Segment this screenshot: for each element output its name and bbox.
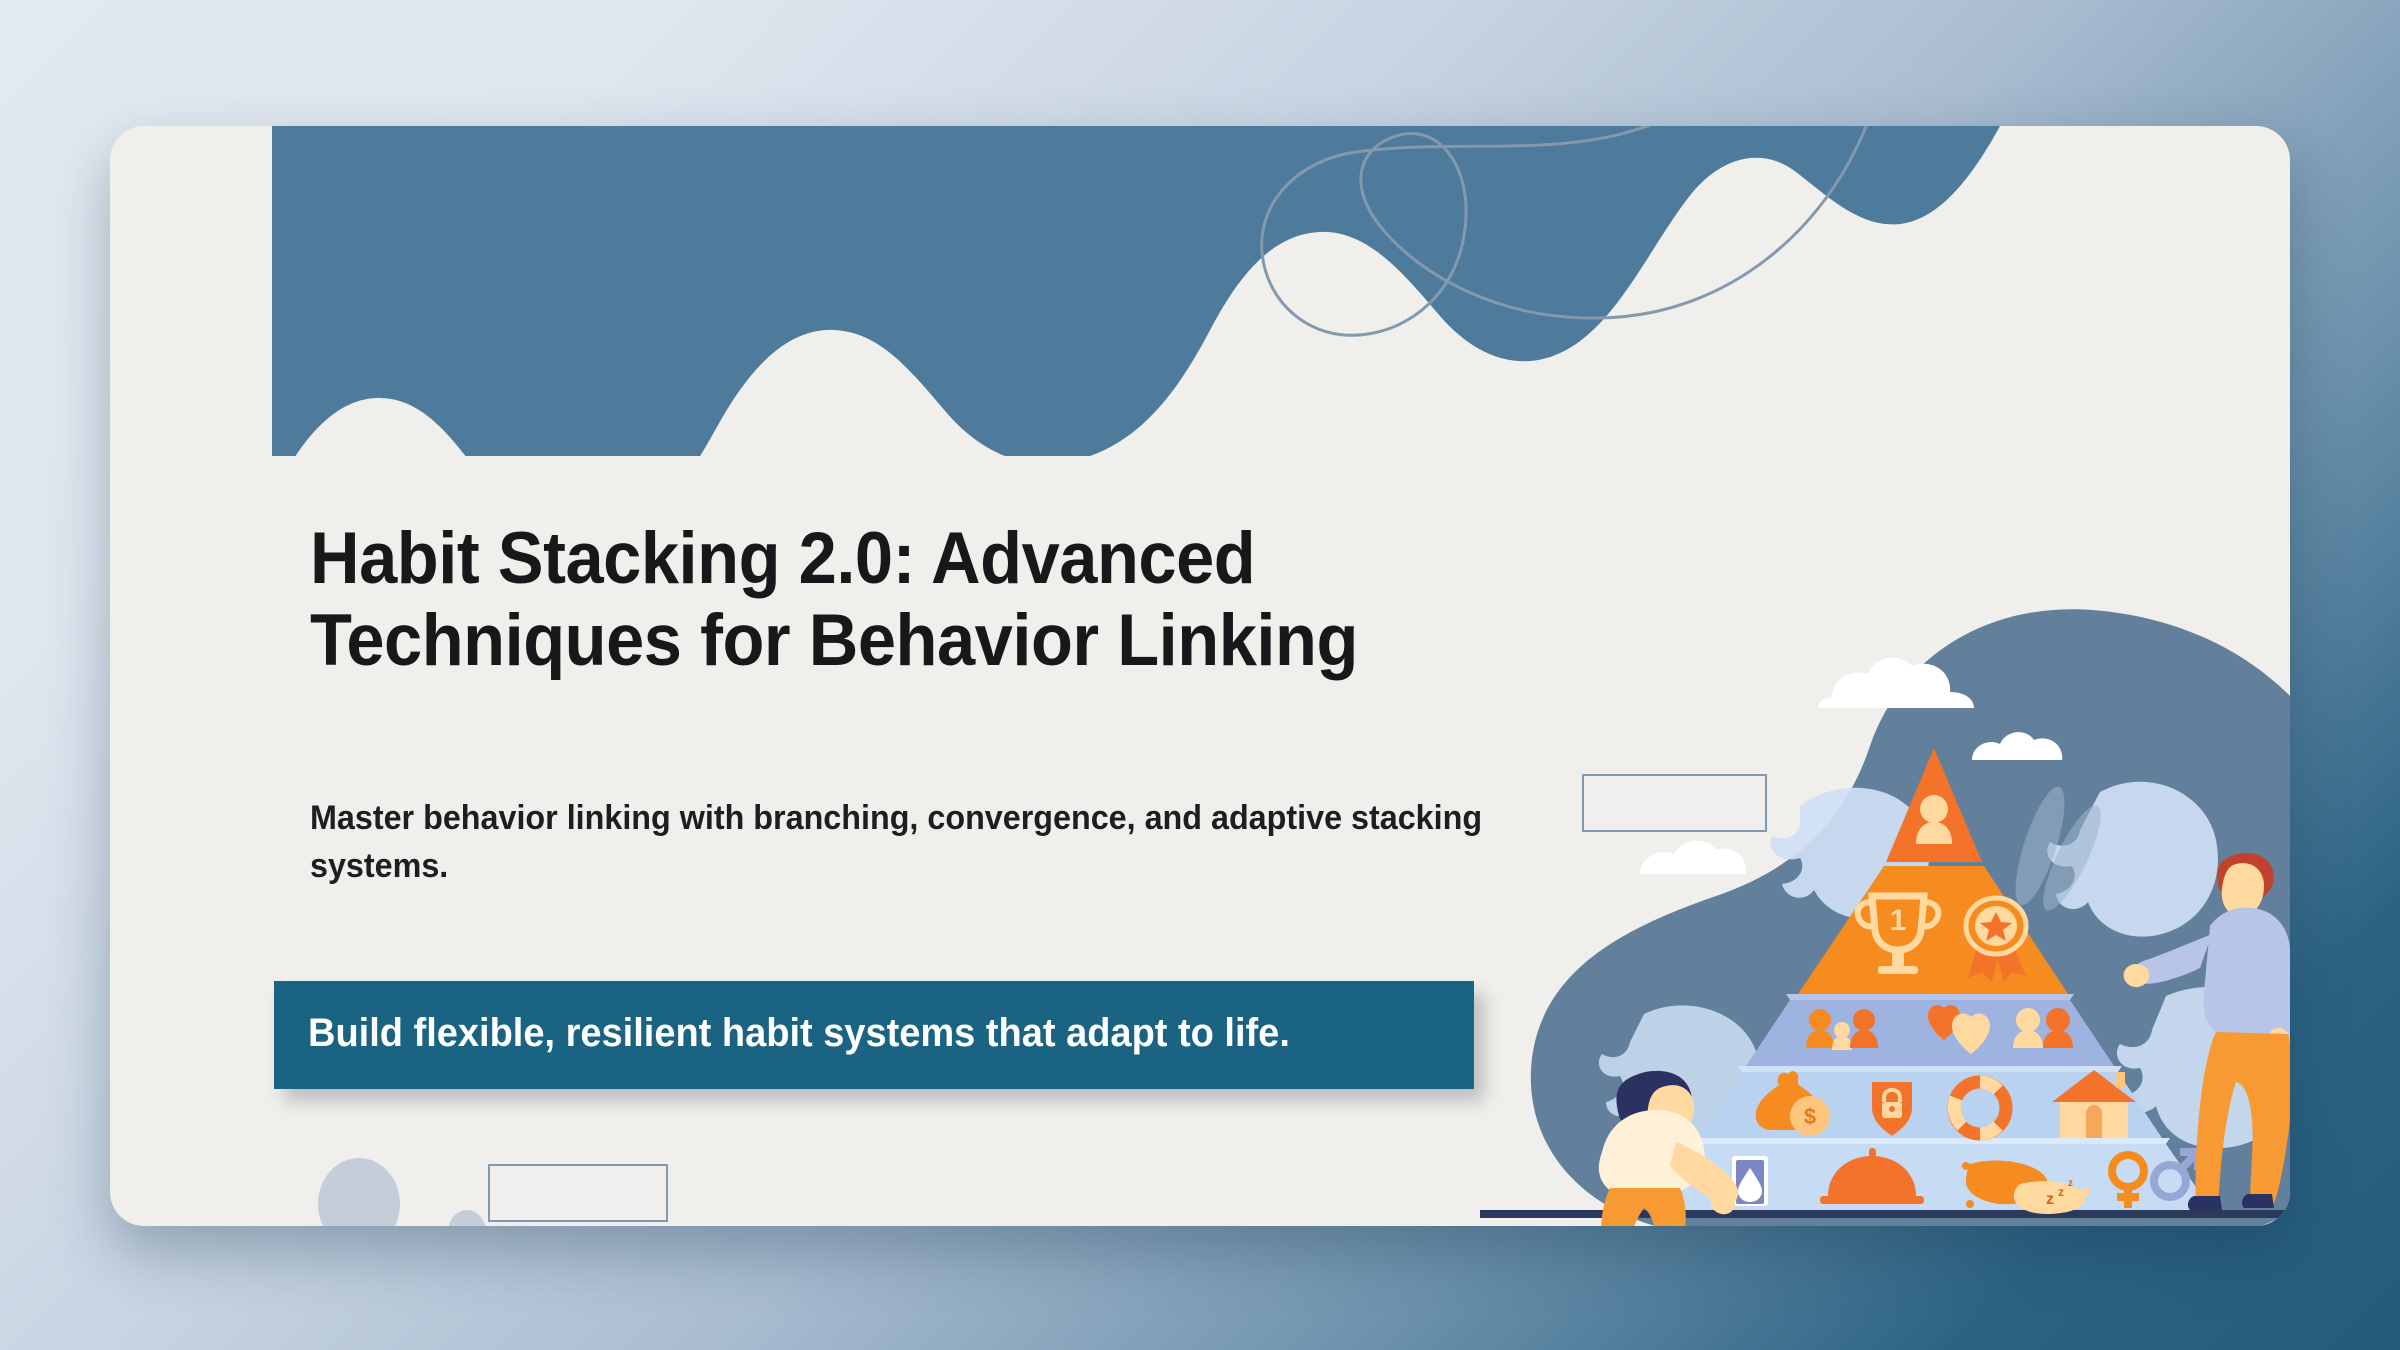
callout-banner: Build flexible, resilient habit systems … — [274, 981, 1474, 1089]
slide-card: z z z — [110, 126, 2290, 1226]
slide-content: Habit Stacking 2.0: Advanced Techniques … — [110, 126, 2290, 1226]
placeholder-rect-2 — [488, 1164, 668, 1222]
page-subtitle: Master behavior linking with branching, … — [310, 794, 1498, 891]
page-title: Habit Stacking 2.0: Advanced Techniques … — [310, 518, 1588, 682]
placeholder-circle-2 — [448, 1210, 486, 1226]
placeholder-circle-1 — [318, 1158, 400, 1226]
callout-text: Build flexible, resilient habit systems … — [308, 1007, 1383, 1059]
placeholder-rect-1 — [1582, 774, 1767, 832]
